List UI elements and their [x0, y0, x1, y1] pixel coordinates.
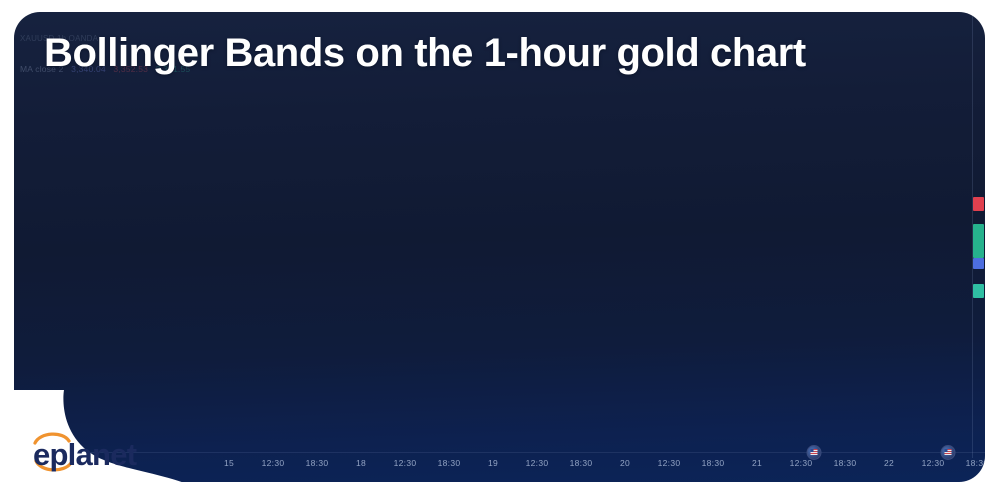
x-axis-tick: 18:30 [702, 458, 725, 468]
brand-name: eplanet [33, 437, 137, 472]
price-tag [973, 197, 984, 211]
chart-card: XAUUSD 1h OANDA MA close 2 3,340.04 3,35… [14, 12, 985, 482]
x-axis-tick: 12:30 [658, 458, 681, 468]
chart-card-inner: XAUUSD 1h OANDA MA close 2 3,340.04 3,35… [14, 12, 985, 482]
price-tag [973, 258, 984, 269]
x-axis-tick: 12:30 [790, 458, 813, 468]
brand-logo[interactable]: eplanet [26, 428, 186, 474]
x-axis-tick: 22 [884, 458, 894, 468]
us-flag-event-icon[interactable] [807, 445, 822, 460]
x-axis-tick: 18:30 [306, 458, 329, 468]
chart-svg [14, 12, 985, 482]
banner: XAUUSD 1h OANDA MA close 2 3,340.04 3,35… [0, 0, 1000, 500]
x-axis-tick: 19 [488, 458, 498, 468]
banner-title: Bollinger Bands on the 1-hour gold chart [44, 33, 984, 73]
x-axis-tick: 12:30 [526, 458, 549, 468]
us-flag-event-icon[interactable] [941, 445, 956, 460]
x-axis-tick: 12:30 [922, 458, 945, 468]
price-tag [973, 224, 984, 258]
x-axis-tick: 18:30 [966, 458, 985, 468]
price-chart[interactable] [14, 12, 985, 482]
x-axis-tick: 15 [224, 458, 234, 468]
x-axis-tick: 18:30 [438, 458, 461, 468]
x-axis-tick: 12:30 [262, 458, 285, 468]
x-axis-tick: 20 [620, 458, 630, 468]
x-axis-tick: 21 [752, 458, 762, 468]
price-tag [973, 284, 984, 298]
x-axis-tick: 18 [356, 458, 366, 468]
x-axis-tick: 18:30 [570, 458, 593, 468]
price-scale[interactable] [972, 12, 985, 458]
x-axis-tick: 18:30 [834, 458, 857, 468]
x-axis-tick: 12:30 [394, 458, 417, 468]
